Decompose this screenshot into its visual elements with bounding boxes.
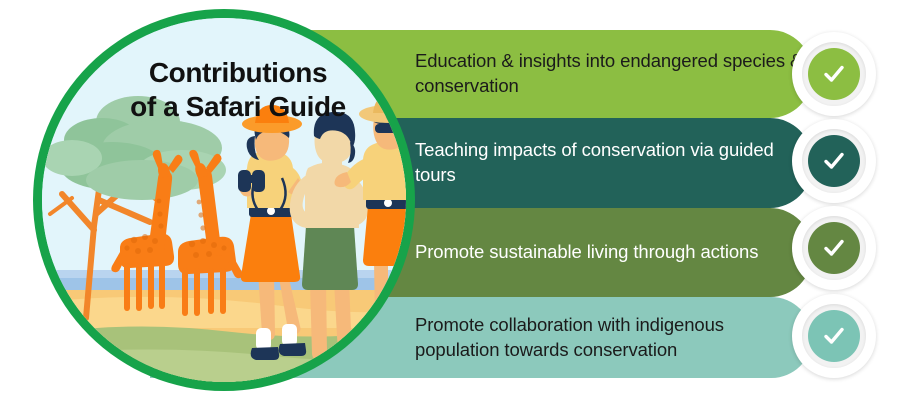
illustration-scene: Contributions of a Safari Guide (42, 18, 406, 382)
badge-core-4 (808, 310, 860, 362)
list-item-1-label: Education & insights into endangered spe… (415, 49, 805, 98)
status-badge-4 (792, 294, 876, 378)
list-item-3-label: Promote sustainable living through actio… (415, 240, 805, 265)
badge-core-1 (808, 48, 860, 100)
list-item-2-label: Teaching impacts of conservation via gui… (415, 138, 805, 187)
page-title-line-1: Contributions (149, 57, 327, 88)
status-badge-2 (792, 119, 876, 203)
badge-ring-2 (802, 129, 866, 193)
badge-core-3 (808, 222, 860, 274)
badge-core-2 (808, 135, 860, 187)
badge-ring-3 (802, 216, 866, 280)
status-badge-3 (792, 206, 876, 290)
check-icon (819, 321, 849, 351)
check-icon (819, 146, 849, 176)
check-icon (819, 233, 849, 263)
infographic-canvas: Education & insights into endangered spe… (0, 0, 900, 400)
badge-ring-4 (802, 304, 866, 368)
status-badge-1 (792, 32, 876, 116)
check-icon (819, 59, 849, 89)
illustration-circle: Contributions of a Safari Guide (33, 9, 415, 391)
page-title-line-2: of a Safari Guide (130, 91, 346, 122)
list-item-4-label: Promote collaboration with indigenous po… (415, 313, 805, 362)
badge-ring-1 (802, 42, 866, 106)
page-title: Contributions of a Safari Guide (42, 56, 406, 123)
